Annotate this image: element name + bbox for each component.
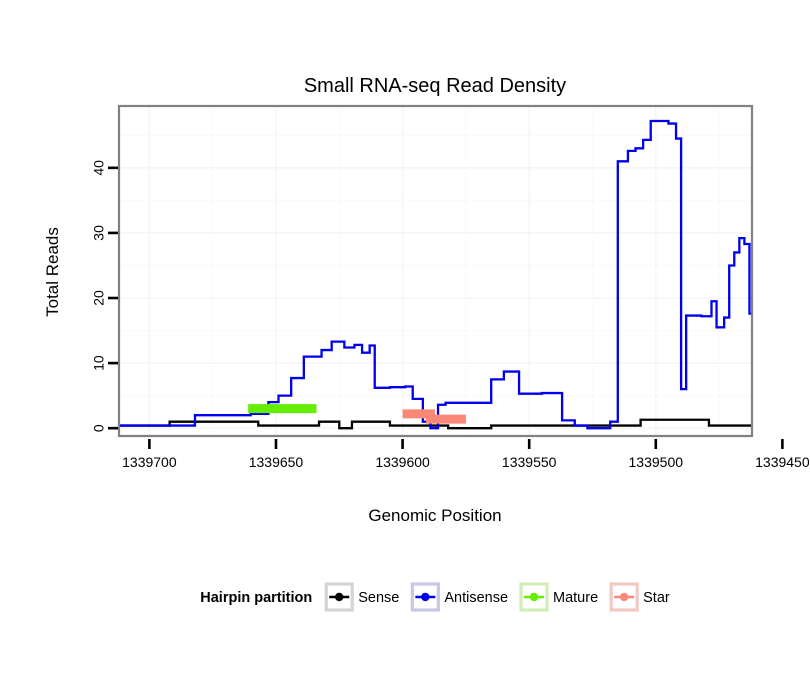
series-line-star xyxy=(403,414,466,419)
legend-key-point xyxy=(620,593,628,601)
x-tick-label: 1339650 xyxy=(249,454,304,470)
x-axis-title: Genomic Position xyxy=(368,506,501,525)
read-density-chart: Small RNA-seq Read Density Total Reads G… xyxy=(0,0,810,690)
legend-entry-label: Star xyxy=(643,590,670,606)
legend-key-point xyxy=(530,593,538,601)
legend-key-point xyxy=(421,593,429,601)
legend-entry-label: Mature xyxy=(553,590,598,606)
chart-title: Small RNA-seq Read Density xyxy=(304,75,566,97)
legend-key-point xyxy=(335,593,343,601)
x-tick-label: 1339500 xyxy=(629,454,684,470)
x-tick-label: 1339450 xyxy=(755,454,810,470)
legend-entry-label: Antisense xyxy=(444,590,508,606)
figure-root: Small RNA-seq Read Density Total Reads G… xyxy=(0,0,810,690)
y-tick-label: 0 xyxy=(91,424,107,432)
y-tick-label: 30 xyxy=(91,225,107,241)
y-axis-title: Total Reads xyxy=(43,227,62,317)
plot-panel xyxy=(119,106,787,436)
x-tick-label: 1339600 xyxy=(375,454,430,470)
x-tick-label: 1339700 xyxy=(122,454,177,470)
legend-title: Hairpin partition xyxy=(200,590,312,606)
legend-entry-label: Sense xyxy=(358,590,399,606)
x-tick-label: 1339550 xyxy=(502,454,557,470)
y-tick-label: 20 xyxy=(91,290,107,306)
y-tick-label: 10 xyxy=(91,355,107,371)
y-tick-label: 40 xyxy=(91,160,107,176)
panel-background xyxy=(119,106,752,436)
